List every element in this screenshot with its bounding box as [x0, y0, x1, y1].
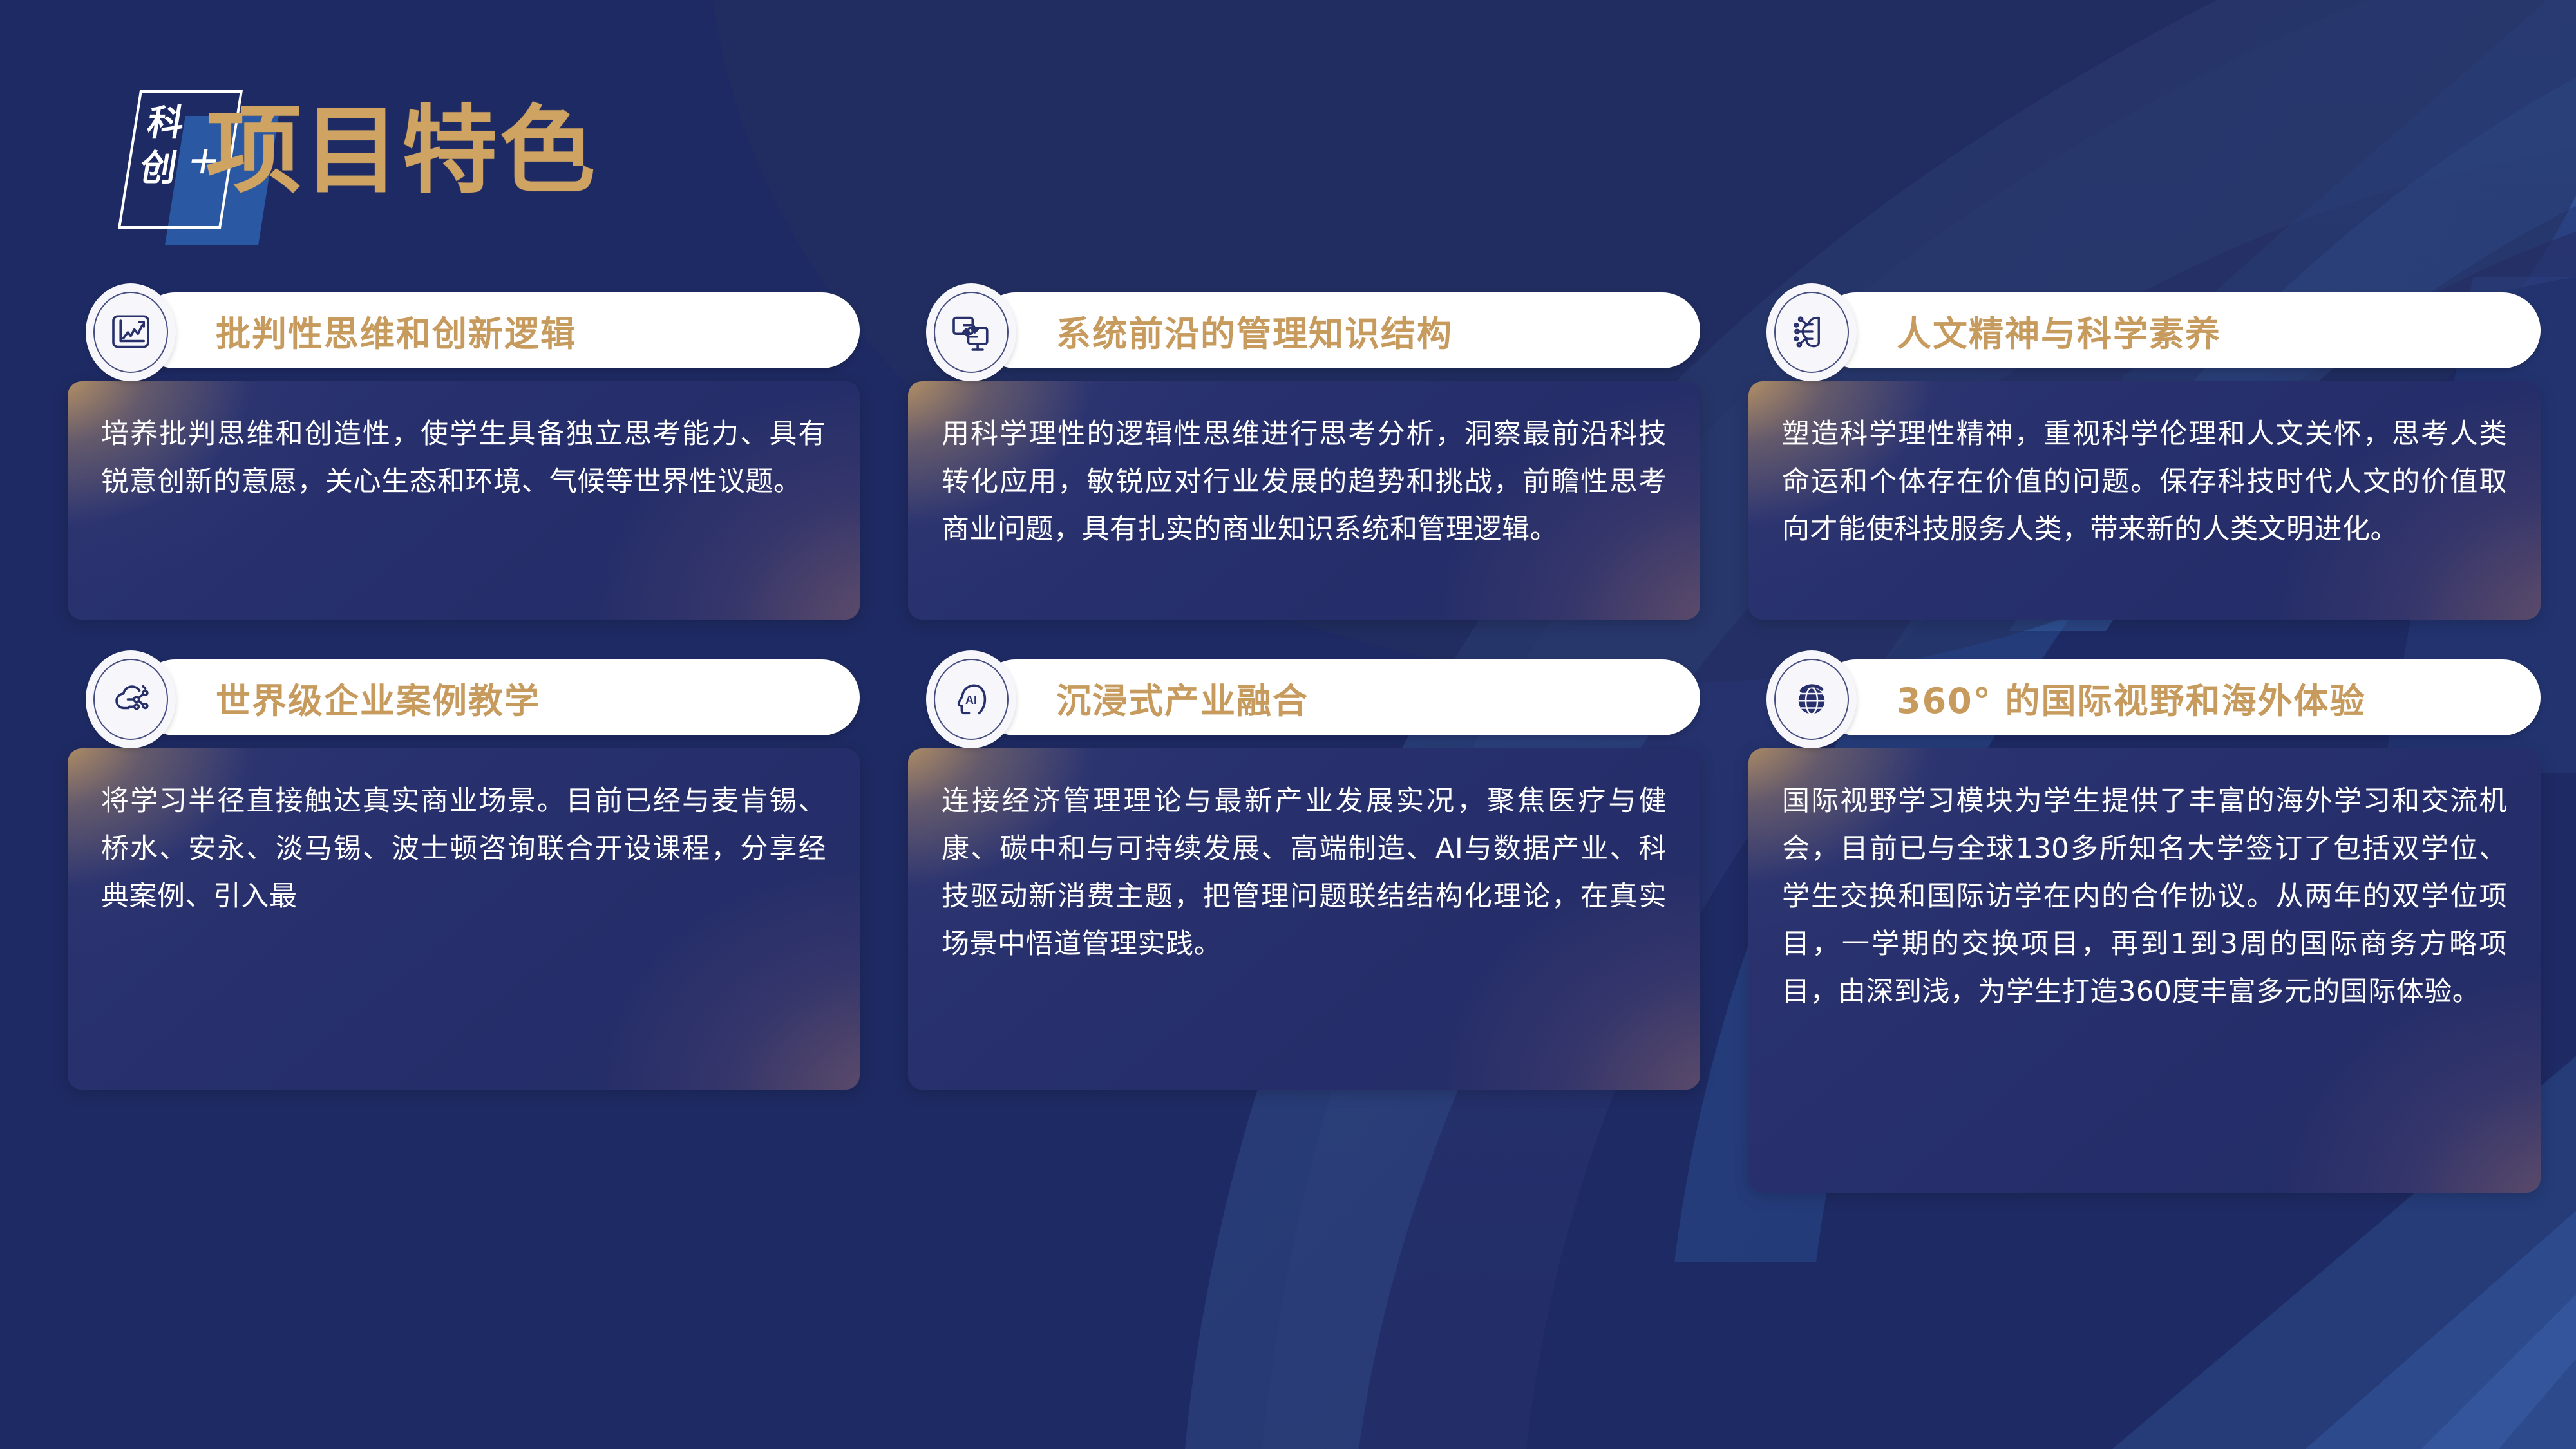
feature-card-1: 批判性思维和创新逻辑 培养批判思维和创造性，使学生具备独立思考能力、具有锐意创新…: [68, 283, 860, 620]
devices-sync-icon: [926, 283, 1016, 381]
feature-card-2-text: 用科学理性的逻辑性思维进行思考分析，洞察最前沿科技转化应用，敏锐应对行业发展的趋…: [942, 411, 1667, 554]
feature-card-3-text: 塑造科学理性精神，重视科学伦理和人文关怀，思考人类命运和个体存在价值的问题。保存…: [1782, 411, 2507, 554]
feature-card-4: 世界级企业案例教学 将学习半径直接触达真实商业场景。目前已经与麦肯锡、桥水、安永…: [68, 650, 860, 1193]
feature-card-6-text: 国际视野学习模块为学生提供了丰富的海外学习和交流机会，目前已与全球130多所知名…: [1782, 778, 2507, 1016]
feature-card-2-body: 用科学理性的逻辑性思维进行思考分析，洞察最前沿科技转化应用，敏锐应对行业发展的趋…: [908, 381, 1700, 620]
feature-card-4-text: 将学习半径直接触达真实商业场景。目前已经与麦肯锡、桥水、安永、淡马锡、波士顿咨询…: [101, 778, 826, 921]
feature-card-2-header: 系统前沿的管理知识结构: [908, 283, 1700, 381]
feature-card-6-title: 360° 的国际视野和海外体验: [1897, 650, 2366, 744]
feature-card-3-body: 塑造科学理性精神，重视科学伦理和人文关怀，思考人类命运和个体存在价值的问题。保存…: [1748, 381, 2541, 620]
chart-growth-icon: [86, 283, 176, 381]
cloud-network-icon: [86, 650, 176, 748]
feature-card-2-title: 系统前沿的管理知识结构: [1056, 283, 1453, 377]
feature-card-5-title: 沉浸式产业融合: [1056, 650, 1309, 744]
feature-card-6-body: 国际视野学习模块为学生提供了丰富的海外学习和交流机会，目前已与全球130多所知名…: [1748, 748, 2541, 1193]
logo-char-ke: 科: [145, 106, 186, 140]
brain-circuit-icon: [1766, 283, 1857, 381]
logo-char-chuang: 创: [138, 151, 179, 185]
feature-card-1-title: 批判性思维和创新逻辑: [216, 283, 576, 377]
feature-cards-grid: 批判性思维和创新逻辑 培养批判思维和创造性，使学生具备独立思考能力、具有锐意创新…: [68, 283, 2521, 1193]
ai-head-icon: AI: [926, 650, 1016, 748]
page-title: 项目特色: [206, 103, 598, 198]
feature-card-4-body: 将学习半径直接触达真实商业场景。目前已经与麦肯锡、桥水、安永、淡马锡、波士顿咨询…: [68, 748, 860, 1090]
feature-card-4-title: 世界级企业案例教学: [216, 650, 540, 744]
globe-icon: [1766, 650, 1857, 748]
feature-card-5: AI 沉浸式产业融合 连接经济管理理论与最新产业发展实况，聚焦医疗与健康、碳中和…: [908, 650, 1700, 1193]
feature-card-5-text: 连接经济管理理论与最新产业发展实况，聚焦医疗与健康、碳中和与可持续发展、高端制造…: [942, 778, 1667, 969]
feature-card-6: 360° 的国际视野和海外体验 国际视野学习模块为学生提供了丰富的海外学习和交流…: [1748, 650, 2541, 1193]
feature-card-3-header: 人文精神与科学素养: [1748, 283, 2541, 381]
feature-card-5-header: AI 沉浸式产业融合: [908, 650, 1700, 748]
feature-card-3-title: 人文精神与科学素养: [1897, 283, 2221, 377]
feature-card-1-text: 培养批判思维和创造性，使学生具备独立思考能力、具有锐意创新的意愿，关心生态和环境…: [101, 411, 826, 506]
feature-card-2: 系统前沿的管理知识结构 用科学理性的逻辑性思维进行思考分析，洞察最前沿科技转化应…: [908, 283, 1700, 620]
feature-card-1-body: 培养批判思维和创造性，使学生具备独立思考能力、具有锐意创新的意愿，关心生态和环境…: [68, 381, 860, 620]
svg-text:AI: AI: [965, 694, 977, 706]
feature-card-6-header: 360° 的国际视野和海外体验: [1748, 650, 2541, 748]
feature-card-4-header: 世界级企业案例教学: [68, 650, 860, 748]
feature-card-3: 人文精神与科学素养 塑造科学理性精神，重视科学伦理和人文关怀，思考人类命运和个体…: [1748, 283, 2541, 620]
feature-card-5-body: 连接经济管理理论与最新产业发展实况，聚焦医疗与健康、碳中和与可持续发展、高端制造…: [908, 748, 1700, 1090]
feature-card-1-header: 批判性思维和创新逻辑: [68, 283, 860, 381]
